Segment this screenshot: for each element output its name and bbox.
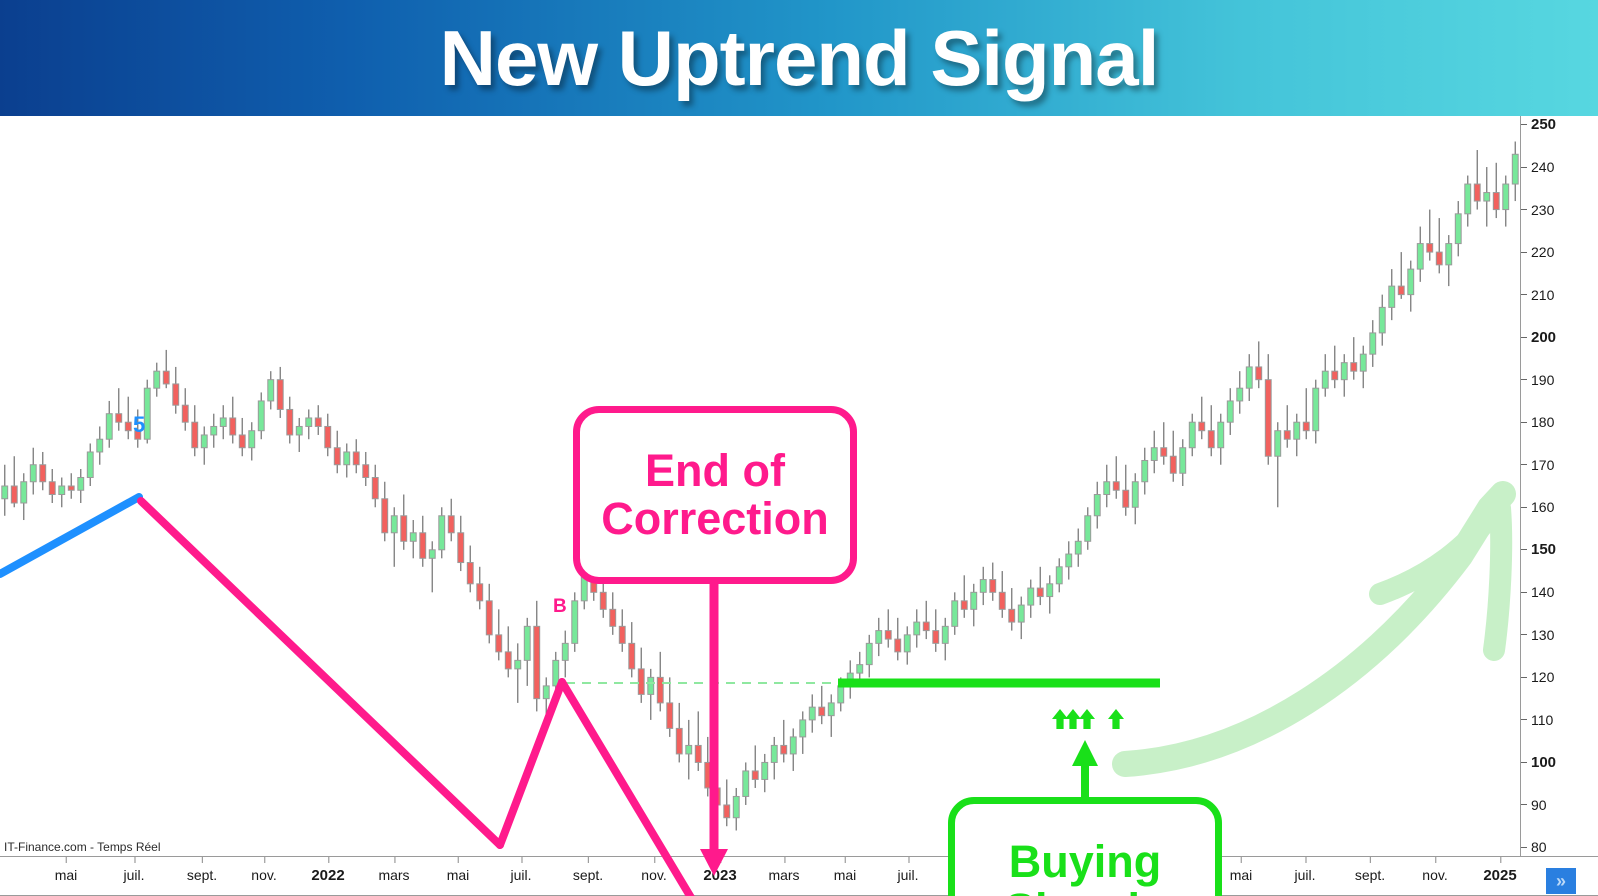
- candle-body-down: [1037, 588, 1043, 597]
- tick-mark-icon: [1521, 719, 1527, 720]
- candle-body-down: [1398, 286, 1404, 295]
- price-tick: 170: [1521, 458, 1554, 472]
- price-tick-label: 100: [1531, 754, 1556, 771]
- time-tick-label: juil.: [897, 867, 918, 883]
- candle-body-up: [553, 660, 559, 686]
- tick-mark-icon: [1370, 857, 1371, 863]
- price-tick: 190: [1521, 373, 1554, 387]
- tick-mark-icon: [845, 857, 846, 863]
- price-tick-label: 140: [1531, 584, 1554, 600]
- candle-body-down: [752, 771, 758, 780]
- tick-mark-icon: [654, 857, 655, 863]
- candle-body-up: [1218, 422, 1224, 448]
- price-tick: 120: [1521, 670, 1554, 684]
- tick-mark-icon: [1521, 379, 1527, 380]
- candle-body-up: [306, 418, 312, 427]
- price-tick: 240: [1521, 160, 1554, 174]
- candle-body-up: [1465, 184, 1471, 214]
- price-tick: 180: [1521, 415, 1554, 429]
- candle-body-up: [562, 643, 568, 660]
- candle-body-down: [781, 745, 787, 754]
- time-tick-label: mai: [447, 867, 470, 883]
- time-tick-label: mars: [378, 867, 409, 883]
- price-tick: 90: [1521, 798, 1547, 812]
- tick-mark-icon: [1305, 857, 1306, 863]
- price-tick-label: 240: [1531, 159, 1554, 175]
- price-tick-label: 170: [1531, 457, 1554, 473]
- price-tick-label: 180: [1531, 414, 1554, 430]
- candle-body-up: [838, 686, 844, 703]
- candle-body-up: [410, 533, 416, 542]
- time-tick: mai: [55, 867, 78, 883]
- tick-mark-icon: [1521, 634, 1527, 635]
- candle-body-down: [448, 516, 454, 533]
- candle-body-up: [1075, 541, 1081, 554]
- candle-body-up: [97, 439, 103, 452]
- candle-body-up: [1047, 584, 1053, 597]
- time-tick-label: mai: [55, 867, 78, 883]
- candle-body-down: [638, 669, 644, 695]
- time-tick-label: 2022: [311, 867, 344, 884]
- candle-body-down: [933, 631, 939, 644]
- candle-body-up: [1417, 244, 1423, 270]
- candle-body-down: [534, 626, 540, 698]
- candle-body-up: [515, 660, 521, 669]
- candle-body-up: [1104, 482, 1110, 495]
- candle-body-up: [1294, 422, 1300, 439]
- candle-body-up: [1389, 286, 1395, 307]
- tick-mark-icon: [1521, 592, 1527, 593]
- tick-mark-icon: [521, 857, 522, 863]
- candle-body-up: [30, 465, 36, 482]
- end-of-correction-line2: Correction: [601, 495, 829, 543]
- candle-body-down: [11, 486, 17, 503]
- candle-body-down: [477, 584, 483, 601]
- candle-body-down: [695, 745, 701, 762]
- candle-body-up: [1018, 605, 1024, 622]
- candle-body-down: [125, 422, 131, 431]
- candle-body-up: [876, 631, 882, 644]
- buying-signals-line1: Buying: [1009, 838, 1162, 886]
- tick-mark-icon: [720, 857, 721, 863]
- candle-body-up: [1512, 154, 1518, 184]
- candle-body-down: [353, 452, 359, 465]
- candle-body-down: [173, 384, 179, 405]
- candle-body-up: [1446, 244, 1452, 265]
- candle-body-down: [1113, 482, 1119, 491]
- candle-body-down: [1208, 431, 1214, 448]
- time-tick-label: 2025: [1483, 867, 1516, 884]
- price-tick: 230: [1521, 203, 1554, 217]
- tick-mark-icon: [588, 857, 589, 863]
- candle-body-up: [1341, 363, 1347, 380]
- tick-mark-icon: [784, 857, 785, 863]
- price-axis[interactable]: 2502402302202102001901801701601501401301…: [1520, 116, 1598, 856]
- end-of-correction-callout[interactable]: End of Correction: [573, 406, 857, 584]
- price-tick-label: 200: [1531, 329, 1556, 346]
- price-tick-label: 210: [1531, 287, 1554, 303]
- candle-body-up: [809, 707, 815, 720]
- candle-body-down: [1493, 193, 1499, 210]
- candle-body-down: [705, 762, 711, 788]
- candle-body-up: [866, 643, 872, 664]
- tick-mark-icon: [1521, 422, 1527, 423]
- candle-body-down: [714, 788, 720, 805]
- candle-body-down: [1474, 184, 1480, 201]
- tick-mark-icon: [1521, 294, 1527, 295]
- time-tick: juil.: [510, 867, 531, 883]
- buying-signals-line2: Signals: [1005, 886, 1165, 896]
- candle-body-down: [895, 639, 901, 652]
- candle-body-down: [420, 533, 426, 559]
- time-tick: mai: [834, 867, 857, 883]
- candle-body-down: [49, 482, 55, 495]
- header-banner: New Uptrend Signal: [0, 0, 1598, 116]
- time-tick: mars: [768, 867, 799, 883]
- candle-body-down: [505, 652, 511, 669]
- candle-body-up: [1408, 269, 1414, 295]
- candle-body-up: [790, 737, 796, 754]
- candle-body-up: [524, 626, 530, 660]
- tick-mark-icon: [264, 857, 265, 863]
- candle-body-down: [1256, 367, 1262, 380]
- price-tick: 200: [1521, 330, 1556, 344]
- candle-body-down: [1009, 609, 1015, 622]
- candle-body-up: [87, 452, 93, 478]
- price-tick: 100: [1521, 755, 1556, 769]
- candle-body-up: [942, 626, 948, 643]
- candle-body-down: [496, 635, 502, 652]
- candle-body-up: [1503, 184, 1509, 210]
- candle-body-up: [771, 745, 777, 762]
- time-axis[interactable]: » maijuil.sept.nov.2022marsmaijuil.sept.…: [0, 856, 1598, 896]
- candle-body-up: [106, 414, 112, 440]
- price-tick: 80: [1521, 840, 1547, 854]
- candle-body-up: [258, 401, 264, 431]
- candle-body-up: [78, 477, 84, 490]
- price-tick: 210: [1521, 288, 1554, 302]
- candle-body-up: [1189, 422, 1195, 448]
- candle-body-up: [1379, 307, 1385, 333]
- candle-body-down: [961, 601, 967, 610]
- tick-mark-icon: [1521, 549, 1527, 550]
- price-tick: 140: [1521, 585, 1554, 599]
- candle-body-up: [980, 580, 986, 593]
- candle-body-down: [1123, 490, 1129, 507]
- candle-body-up: [1360, 354, 1366, 371]
- candle-body-up: [648, 677, 654, 694]
- candle-body-up: [429, 550, 435, 559]
- candle-body-up: [1227, 401, 1233, 422]
- candle-body-down: [458, 533, 464, 563]
- screenshot-root: New Uptrend Signal 250240230220210200190…: [0, 0, 1598, 896]
- price-tick-label: 90: [1531, 797, 1547, 813]
- candle-body-down: [923, 622, 929, 631]
- candle-body-up: [1455, 214, 1461, 244]
- tick-mark-icon: [1521, 804, 1527, 805]
- buying-signals-callout[interactable]: Buying Signals: [948, 797, 1222, 896]
- tick-mark-icon: [1521, 209, 1527, 210]
- candle-body-up: [439, 516, 445, 550]
- price-tick-label: 130: [1531, 627, 1554, 643]
- candle-body-down: [239, 435, 245, 448]
- candle-body-down: [1436, 252, 1442, 265]
- wave-label-b: B: [553, 596, 567, 618]
- tick-mark-icon: [1521, 507, 1527, 508]
- candle-body-down: [163, 371, 169, 384]
- candle-body-down: [1284, 431, 1290, 440]
- time-tick: mars: [378, 867, 409, 883]
- time-tick: mai: [1230, 867, 1253, 883]
- time-tick: nov.: [641, 867, 666, 883]
- wave-label-5: 5: [133, 412, 145, 438]
- tick-mark-icon: [1521, 847, 1527, 848]
- time-tick-label: nov.: [251, 867, 276, 883]
- candle-body-up: [1237, 388, 1243, 401]
- tick-mark-icon: [1500, 857, 1501, 863]
- candle-body-down: [182, 405, 188, 422]
- candle-body-up: [1370, 333, 1376, 354]
- candle-body-up: [154, 371, 160, 388]
- time-tick: juil.: [1294, 867, 1315, 883]
- price-tick-label: 220: [1531, 244, 1554, 260]
- candle-body-down: [1199, 422, 1205, 431]
- tick-mark-icon: [1521, 124, 1527, 125]
- candle-body-up: [1275, 431, 1281, 457]
- candle-body-down: [486, 601, 492, 635]
- tick-mark-icon: [1521, 464, 1527, 465]
- candle-body-down: [629, 643, 635, 669]
- price-tick-label: 160: [1531, 499, 1554, 515]
- time-tick: juil.: [897, 867, 918, 883]
- candle-body-up: [733, 796, 739, 817]
- candle-body-down: [1303, 422, 1309, 431]
- price-tick: 160: [1521, 500, 1554, 514]
- time-tick-label: sept.: [187, 867, 217, 883]
- candle-body-down: [990, 580, 996, 593]
- time-tick-label: sept.: [1355, 867, 1385, 883]
- candle-body-up: [1132, 482, 1138, 508]
- candle-body-down: [819, 707, 825, 716]
- time-tick-label: mars: [768, 867, 799, 883]
- candle-body-down: [657, 677, 663, 703]
- price-tick-label: 80: [1531, 839, 1547, 855]
- candle-body-down: [619, 626, 625, 643]
- price-tick-label: 110: [1531, 712, 1553, 728]
- candle-body-down: [363, 465, 369, 478]
- candle-body-up: [1484, 193, 1490, 202]
- time-tick: 2023: [703, 867, 736, 884]
- tick-mark-icon: [1521, 337, 1527, 338]
- candle-body-up: [743, 771, 749, 797]
- candle-body-up: [344, 452, 350, 465]
- candle-body-up: [220, 418, 226, 427]
- candle-body-down: [192, 422, 198, 448]
- candle-body-down: [68, 486, 74, 490]
- time-tick-label: juil.: [1294, 867, 1315, 883]
- candle-body-down: [401, 516, 407, 542]
- candle-body-down: [724, 805, 730, 818]
- candle-body-up: [1180, 448, 1186, 474]
- candle-body-down: [40, 465, 46, 482]
- candle-body-down: [610, 609, 616, 626]
- candle-body-up: [686, 745, 692, 754]
- time-tick: nov.: [1422, 867, 1447, 883]
- tick-mark-icon: [908, 857, 909, 863]
- candle-body-up: [2, 486, 8, 499]
- time-tick: 2025: [1483, 867, 1516, 884]
- candle-body-up: [1028, 588, 1034, 605]
- candle-body-down: [325, 426, 331, 447]
- tick-mark-icon: [1521, 762, 1527, 763]
- time-tick: sept.: [1355, 867, 1385, 883]
- candle-body-down: [372, 477, 378, 498]
- candle-body-down: [230, 418, 236, 435]
- time-tick-label: mai: [1230, 867, 1253, 883]
- page-title: New Uptrend Signal: [0, 0, 1598, 116]
- candle-body-up: [391, 516, 397, 533]
- time-tick-label: juil.: [510, 867, 531, 883]
- end-of-correction-line1: End of: [645, 447, 785, 495]
- candle-body-down: [999, 592, 1005, 609]
- candle-body-down: [1427, 244, 1433, 253]
- candle-body-up: [800, 720, 806, 737]
- candle-body-down: [1332, 371, 1338, 380]
- candle-body-up: [1094, 495, 1100, 516]
- candle-body-down: [116, 414, 122, 423]
- price-tick: 110: [1521, 713, 1553, 727]
- time-tick-label: 2023: [703, 867, 736, 884]
- time-tick-label: nov.: [641, 867, 666, 883]
- candle-body-up: [268, 380, 274, 401]
- candle-body-down: [334, 448, 340, 465]
- price-tick: 150: [1521, 543, 1556, 557]
- candle-body-up: [847, 673, 853, 686]
- tick-mark-icon: [394, 857, 395, 863]
- time-tick: sept.: [573, 867, 603, 883]
- tick-mark-icon: [202, 857, 203, 863]
- price-tick: 130: [1521, 628, 1554, 642]
- tick-mark-icon: [1521, 677, 1527, 678]
- candle-body-down: [600, 592, 606, 609]
- candle-body-up: [543, 686, 549, 699]
- candle-body-up: [21, 482, 27, 503]
- time-tick-label: mai: [834, 867, 857, 883]
- time-tick: sept.: [187, 867, 217, 883]
- tick-mark-icon: [134, 857, 135, 863]
- price-tick: 220: [1521, 245, 1554, 259]
- candle-body-up: [904, 635, 910, 652]
- candle-body-up: [1151, 448, 1157, 461]
- candle-body-down: [277, 380, 283, 410]
- time-tick-label: nov.: [1422, 867, 1447, 883]
- candle-body-up: [1142, 460, 1148, 481]
- time-tick: mai: [447, 867, 470, 883]
- candle-body-down: [676, 728, 682, 754]
- tick-mark-icon: [1521, 167, 1527, 168]
- tick-mark-icon: [1435, 857, 1436, 863]
- candle-body-up: [59, 486, 65, 495]
- candle-body-up: [1322, 371, 1328, 388]
- chart-container: 2502402302202102001901801701601501401301…: [0, 116, 1598, 896]
- tick-mark-icon: [1521, 252, 1527, 253]
- candle-body-up: [1085, 516, 1091, 542]
- candle-body-down: [1265, 380, 1271, 457]
- provider-watermark: IT-Finance.com - Temps Réel: [4, 840, 161, 854]
- candle-body-down: [287, 409, 293, 435]
- tick-mark-icon: [458, 857, 459, 863]
- time-tick-label: sept.: [573, 867, 603, 883]
- candle-body-up: [211, 426, 217, 435]
- time-tick-label: juil.: [123, 867, 144, 883]
- tick-mark-icon: [1241, 857, 1242, 863]
- time-tick: juil.: [123, 867, 144, 883]
- candle-body-up: [1313, 388, 1319, 431]
- candle-body-up: [572, 601, 578, 644]
- candle-body-up: [828, 703, 834, 716]
- candle-body-down: [1351, 363, 1357, 372]
- tick-mark-icon: [66, 857, 67, 863]
- candle-body-down: [315, 418, 321, 427]
- tick-mark-icon: [328, 857, 329, 863]
- candle-body-up: [762, 762, 768, 779]
- candle-body-down: [467, 563, 473, 584]
- candle-body-up: [249, 431, 255, 448]
- time-tick: 2022: [311, 867, 344, 884]
- candle-body-up: [1246, 367, 1252, 388]
- candle-body-up: [1056, 567, 1062, 584]
- candle-body-down: [1170, 456, 1176, 473]
- candle-body-up: [296, 426, 302, 435]
- candle-body-up: [914, 622, 920, 635]
- candle-body-up: [201, 435, 207, 448]
- price-tick-label: 150: [1531, 541, 1556, 558]
- candle-body-down: [885, 631, 891, 640]
- candle-body-up: [1066, 554, 1072, 567]
- candle-body-up: [952, 601, 958, 627]
- candle-body-down: [1161, 448, 1167, 457]
- candle-body-down: [382, 499, 388, 533]
- price-tick: 250: [1521, 118, 1556, 132]
- price-tick-label: 230: [1531, 202, 1554, 218]
- price-tick-label: 120: [1531, 669, 1554, 685]
- scroll-forward-button[interactable]: »: [1546, 868, 1576, 894]
- candle-body-up: [857, 665, 863, 674]
- price-tick-label: 190: [1531, 372, 1554, 388]
- price-tick-label: 250: [1531, 116, 1556, 133]
- candle-body-down: [667, 703, 673, 729]
- candle-body-up: [971, 592, 977, 609]
- time-tick: nov.: [251, 867, 276, 883]
